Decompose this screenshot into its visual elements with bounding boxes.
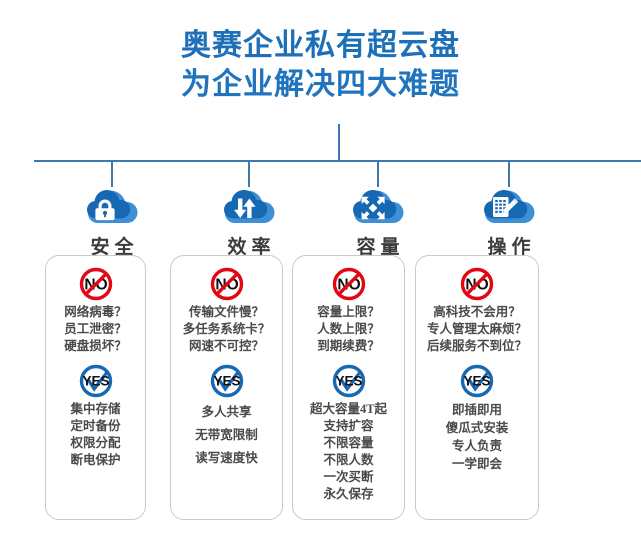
list-item: 多人共享 bbox=[171, 401, 282, 424]
list-item: 定时备份 bbox=[46, 418, 145, 435]
list-item: 网络病毒？ bbox=[46, 304, 145, 321]
card-capacity: NO 容量上限？ 人数上限？ 到期续费？ YES 超大容量4T起 支持扩容 不限… bbox=[292, 255, 405, 520]
infographic-canvas: 奥赛企业私有超云盘 为企业解决四大难题 安全 bbox=[0, 0, 641, 546]
card-security: NO 网络病毒？ 员工泄密？ 硬盘损坏？ YES 集中存储 定时备份 权限分配 … bbox=[45, 255, 146, 520]
column-head-capacity: 容量 bbox=[318, 185, 438, 259]
list-item: 权限分配 bbox=[46, 435, 145, 452]
column-head-efficiency: 效率 bbox=[189, 185, 309, 259]
yes-badge-icon: YES bbox=[79, 364, 113, 398]
solution-list-efficiency: 多人共享 无带宽限制 读写速度快 bbox=[171, 401, 282, 470]
connector-horizontal-line bbox=[34, 160, 641, 162]
svg-text:YES: YES bbox=[82, 373, 109, 388]
list-item: 到期续费？ bbox=[293, 338, 404, 355]
solution-list-operation: 即插即用 傻瓜式安装 专人负责 一学即会 bbox=[416, 401, 538, 473]
cloud-expand-icon bbox=[347, 185, 409, 229]
list-item: 傻瓜式安装 bbox=[416, 419, 538, 437]
connector-drop-capacity bbox=[377, 161, 379, 187]
list-item: 多任务系统卡？ bbox=[171, 321, 282, 338]
list-item: 专人负责 bbox=[416, 437, 538, 455]
card-efficiency: NO 传输文件慢？ 多任务系统卡？ 网速不可控？ YES 多人共享 无带宽限制 … bbox=[170, 255, 283, 520]
page-title: 奥赛企业私有超云盘 为企业解决四大难题 bbox=[0, 26, 641, 104]
list-item: 人数上限？ bbox=[293, 321, 404, 338]
problem-list-operation: 高科技不会用？ 专人管理太麻烦？ 后续服务不到位？ bbox=[416, 304, 538, 355]
solution-list-capacity: 超大容量4T起 支持扩容 不限容量 不限人数 一次买断 永久保存 bbox=[293, 401, 404, 503]
list-item: 永久保存 bbox=[293, 486, 404, 503]
list-item: 不限容量 bbox=[293, 435, 404, 452]
no-badge-icon: NO bbox=[210, 267, 244, 301]
list-item: 无带宽限制 bbox=[171, 424, 282, 447]
list-item: 不限人数 bbox=[293, 452, 404, 469]
problem-list-security: 网络病毒？ 员工泄密？ 硬盘损坏？ bbox=[46, 304, 145, 355]
list-item: 容量上限？ bbox=[293, 304, 404, 321]
list-item: 员工泄密？ bbox=[46, 321, 145, 338]
yes-badge-icon: YES bbox=[460, 364, 494, 398]
cloud-document-pencil-icon bbox=[478, 185, 540, 229]
yes-badge-icon: YES bbox=[210, 364, 244, 398]
list-item: 网速不可控？ bbox=[171, 338, 282, 355]
problem-list-efficiency: 传输文件慢？ 多任务系统卡？ 网速不可控？ bbox=[171, 304, 282, 355]
list-item: 后续服务不到位？ bbox=[416, 338, 538, 355]
list-item: 断电保护 bbox=[46, 452, 145, 469]
title-line-1: 奥赛企业私有超云盘 bbox=[0, 26, 641, 65]
card-operation: NO 高科技不会用？ 专人管理太麻烦？ 后续服务不到位？ YES 即插即用 傻瓜… bbox=[415, 255, 539, 520]
solution-list-security: 集中存储 定时备份 权限分配 断电保护 bbox=[46, 401, 145, 469]
list-item: 集中存储 bbox=[46, 401, 145, 418]
list-item: 传输文件慢？ bbox=[171, 304, 282, 321]
svg-text:YES: YES bbox=[463, 373, 490, 388]
yes-badge-icon: YES bbox=[332, 364, 366, 398]
list-item: 高科技不会用？ bbox=[416, 304, 538, 321]
svg-text:YES: YES bbox=[335, 373, 362, 388]
no-badge-icon: NO bbox=[332, 267, 366, 301]
no-badge-icon: NO bbox=[79, 267, 113, 301]
column-head-operation: 操作 bbox=[449, 185, 569, 259]
list-item: 一次买断 bbox=[293, 469, 404, 486]
list-item: 读写速度快 bbox=[171, 447, 282, 470]
connector-drop-security bbox=[111, 161, 113, 187]
no-badge-icon: NO bbox=[460, 267, 494, 301]
title-line-2: 为企业解决四大难题 bbox=[0, 65, 641, 104]
connector-drop-operation bbox=[508, 161, 510, 187]
list-item: 专人管理太麻烦？ bbox=[416, 321, 538, 338]
cloud-lock-icon bbox=[81, 185, 143, 229]
column-head-security: 安全 bbox=[52, 185, 172, 259]
list-item: 一学即会 bbox=[416, 455, 538, 473]
problem-list-capacity: 容量上限？ 人数上限？ 到期续费？ bbox=[293, 304, 404, 355]
connector-stem bbox=[338, 124, 340, 161]
list-item: 超大容量4T起 bbox=[293, 401, 404, 418]
list-item: 硬盘损坏？ bbox=[46, 338, 145, 355]
connector-drop-efficiency bbox=[248, 161, 250, 187]
cloud-transfer-arrows-icon bbox=[218, 185, 280, 229]
svg-text:YES: YES bbox=[213, 373, 240, 388]
list-item: 即插即用 bbox=[416, 401, 538, 419]
list-item: 支持扩容 bbox=[293, 418, 404, 435]
